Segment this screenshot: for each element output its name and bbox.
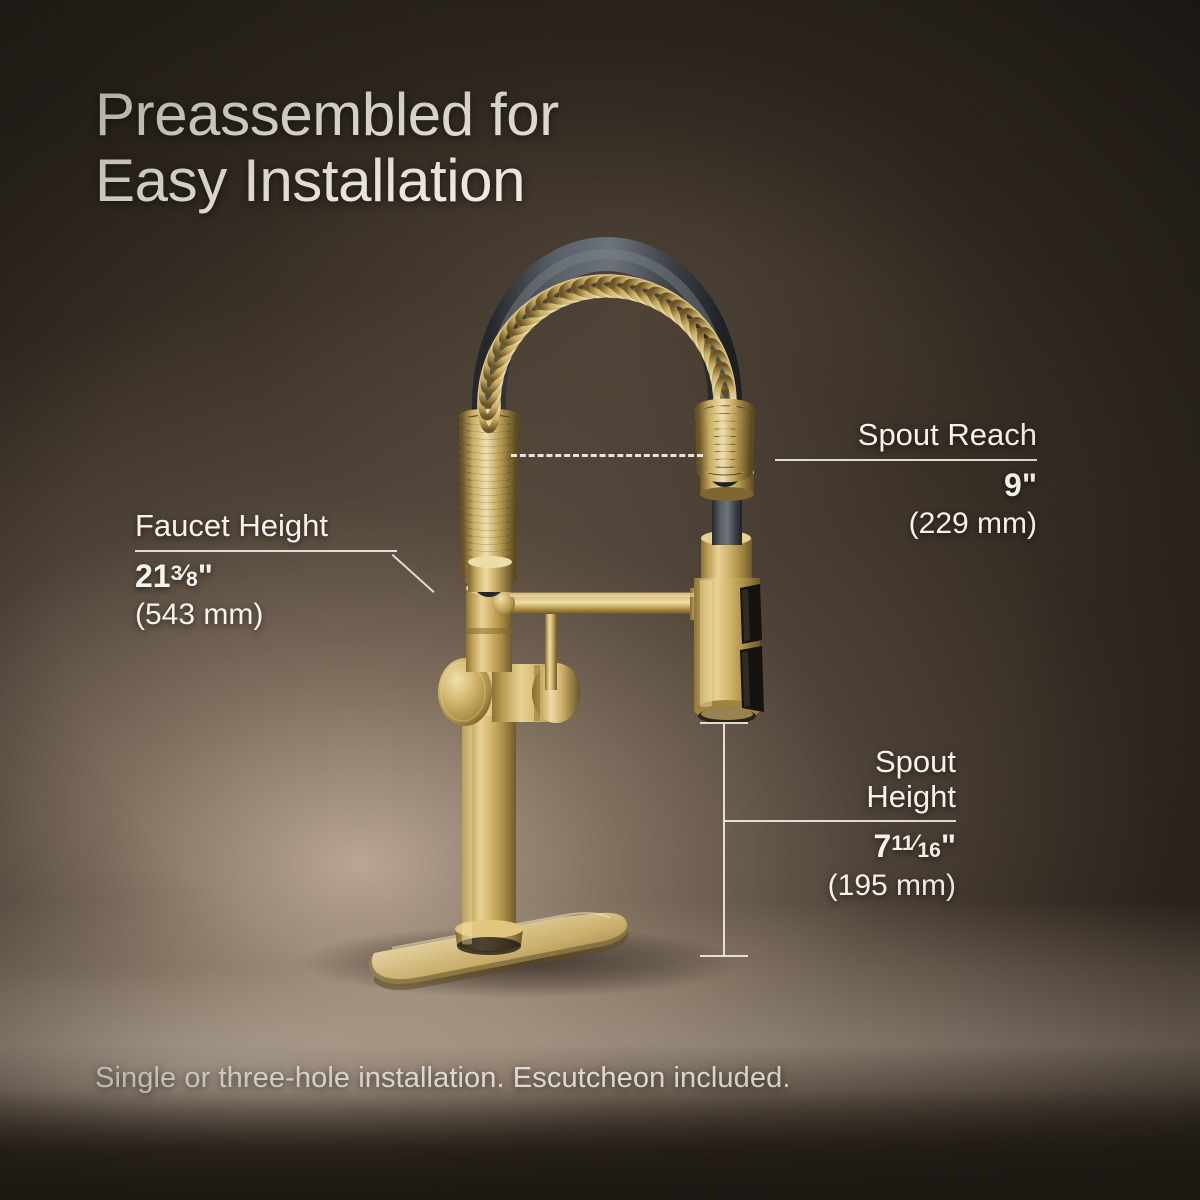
product-diagram: Preassembled for Easy Installation Fauce…	[0, 0, 1200, 1200]
vignette-overlay	[0, 0, 1200, 1200]
bottom-shadow-overlay	[0, 1090, 1200, 1200]
